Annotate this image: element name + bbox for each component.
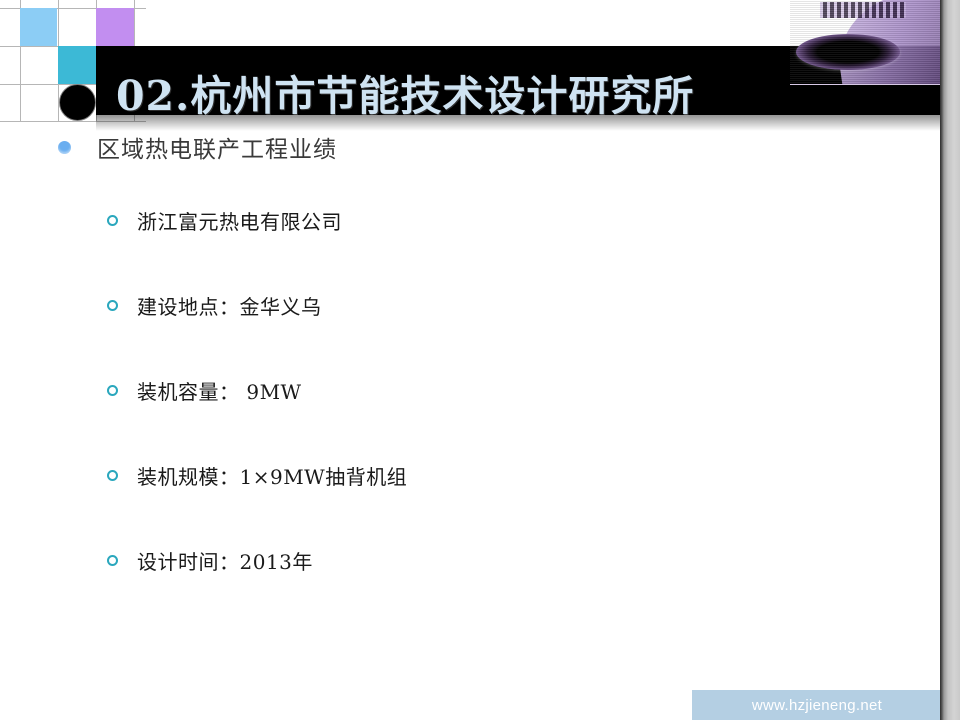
decorative-photo-disc xyxy=(790,0,942,85)
filled-circle-bullet-icon xyxy=(58,141,71,154)
list-item: 设计时间：2013年 xyxy=(107,546,942,574)
hollow-circle-bullet-icon xyxy=(107,385,118,396)
list-item: 装机规模：1×9MW抽背机组 xyxy=(107,461,942,489)
photo-scanlines xyxy=(790,0,942,84)
list-item: 浙江富元热电有限公司 xyxy=(107,206,942,234)
slide-body: 区域热电联产工程业绩 浙江富元热电有限公司 建设地点：金华义乌 装机容量： 9M… xyxy=(0,130,942,631)
list-item-label: 设计时间：2013年 xyxy=(137,546,313,575)
list-item-label: 装机容量： 9MW xyxy=(137,376,302,405)
decorative-square-teal xyxy=(58,46,96,84)
bullet-sublist: 浙江富元热电有限公司 建设地点：金华义乌 装机容量： 9MW 装机规模：1×9M… xyxy=(0,206,942,574)
footer-watermark-band: www.hzjieneng.net xyxy=(692,690,942,720)
footer-url-label: www.hzjieneng.net xyxy=(752,697,882,714)
slide-canvas: 02.杭州市节能技术设计研究所 区域热电联产工程业绩 浙江富元热电有限公司 建设… xyxy=(0,0,960,720)
list-item-label: 建设地点：金华义乌 xyxy=(137,291,322,320)
list-item: 建设地点：金华义乌 xyxy=(107,291,942,319)
bullet-heading-label: 区域热电联产工程业绩 xyxy=(97,130,337,164)
list-item: 装机容量： 9MW xyxy=(107,376,942,404)
hollow-circle-bullet-icon xyxy=(107,555,118,566)
hollow-circle-bullet-icon xyxy=(107,215,118,226)
slide-title: 02.杭州市节能技术设计研究所 xyxy=(116,62,694,122)
decorative-square-purple xyxy=(96,8,134,46)
hollow-circle-bullet-icon xyxy=(107,300,118,311)
hollow-circle-bullet-icon xyxy=(107,470,118,481)
bullet-heading: 区域热电联产工程业绩 xyxy=(58,130,942,164)
list-item-label: 浙江富元热电有限公司 xyxy=(137,206,342,235)
decorative-square-blue xyxy=(20,8,57,46)
decorative-circle-black xyxy=(59,84,96,121)
slide-right-frame xyxy=(940,0,960,720)
list-item-label: 装机规模：1×9MW抽背机组 xyxy=(137,461,407,490)
